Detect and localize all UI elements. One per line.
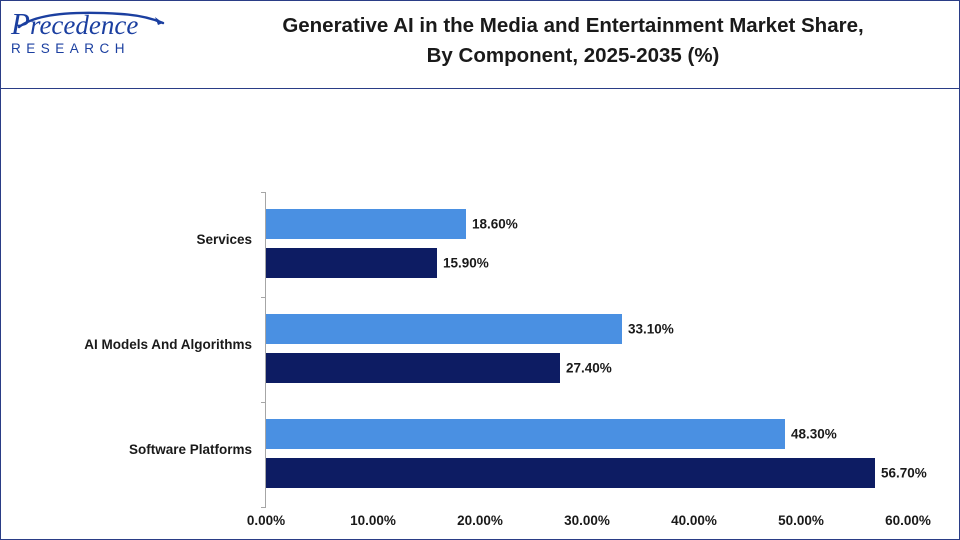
bar-value-label: 27.40% [560,361,612,376]
x-tick-label: 20.00% [457,513,503,528]
page-title-line1: Generative AI in the Media and Entertain… [197,11,949,41]
bar-services-2035: 18.60% [266,209,466,239]
x-tick-label: 40.00% [671,513,717,528]
y-tick-ai-models [261,297,266,298]
bar-software-platforms-2025: 56.70% [266,458,875,488]
bar-group-services: Services 18.60% 15.90% [266,200,909,293]
bar-ai-models-2035: 33.10% [266,314,622,344]
logo-name-rest: recedence [30,10,138,40]
bar-group-software-platforms: Software Platforms 48.30% 56.70% [266,410,909,503]
chart-area: Services 18.60% 15.90% AI Models And Alg… [1,89,960,539]
bar-value-label: 15.90% [437,256,489,271]
page-title-line2: By Component, 2025-2035 (%) [197,41,949,71]
bar-value-label: 33.10% [622,322,674,337]
y-tick-software-platforms [261,402,266,403]
logo-wordmark: Precedence [11,9,191,40]
y-tick-services [261,192,266,193]
chart-page: Precedence RESEARCH Generative AI in the… [0,0,960,540]
x-axis-labels: 0.00% 10.00% 20.00% 30.00% 40.00% 50.00%… [265,513,909,533]
x-tick-label: 50.00% [778,513,824,528]
page-title: Generative AI in the Media and Entertain… [197,11,949,71]
precedence-research-logo: Precedence RESEARCH [11,9,191,71]
category-label: Services [196,232,252,247]
x-tick-label: 10.00% [350,513,396,528]
x-tick-label: 60.00% [885,513,931,528]
x-tick-label: 0.00% [247,513,285,528]
bar-services-2025: 15.90% [266,248,437,278]
logo-initial: P [11,6,30,41]
bar-value-label: 56.70% [875,466,927,481]
bar-software-platforms-2035: 48.30% [266,419,785,449]
page-header: Precedence RESEARCH Generative AI in the… [1,1,959,89]
plot-region: Services 18.60% 15.90% AI Models And Alg… [265,192,909,507]
bar-value-label: 48.30% [785,427,837,442]
bar-ai-models-2025: 27.40% [266,353,560,383]
y-tick-axis-end [261,507,266,508]
category-label: Software Platforms [129,442,252,457]
bar-group-ai-models-and-algorithms: AI Models And Algorithms 33.10% 27.40% [266,305,909,398]
x-tick-label: 30.00% [564,513,610,528]
logo-subtitle: RESEARCH [11,41,191,56]
bar-value-label: 18.60% [466,217,518,232]
category-label: AI Models And Algorithms [84,337,252,352]
